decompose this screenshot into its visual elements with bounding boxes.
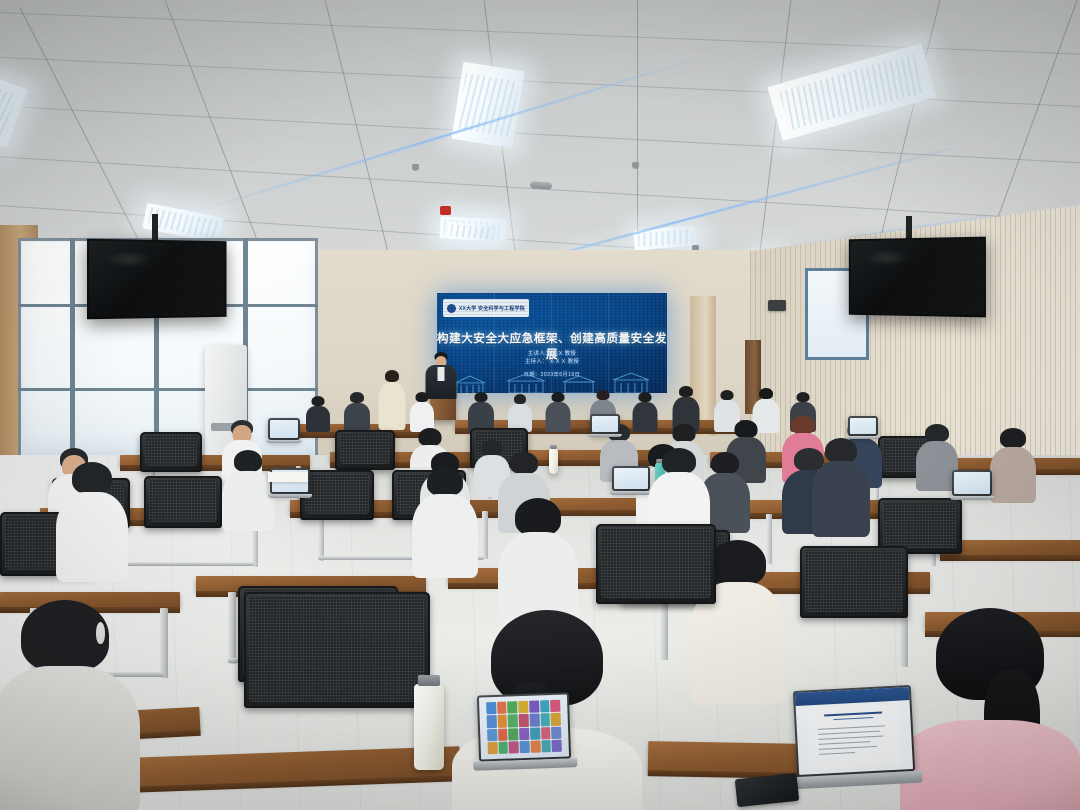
attendee [812, 438, 870, 534]
attendee-foreground [900, 608, 1080, 810]
attendee [56, 462, 128, 578]
ceiling-light [451, 62, 524, 149]
white-thermos-bottle[interactable] [414, 684, 444, 770]
attendee [412, 468, 478, 576]
attendee [410, 392, 434, 430]
laptop[interactable] [268, 418, 300, 440]
lecture-hall-photo: XX大学 安全科学与工程学院 构建大安全大应急框架、创建高质量安全发展 主讲人：… [0, 0, 1080, 810]
ceiling-light [767, 43, 936, 141]
attendee [306, 396, 330, 430]
chair[interactable] [335, 430, 395, 470]
notebook [268, 472, 308, 482]
attendee [468, 392, 494, 430]
attendee [498, 498, 578, 628]
ceiling-mounted-display-right [849, 237, 986, 318]
slide-skyline-graphic [437, 371, 667, 393]
desktop-icon-grid [486, 700, 562, 755]
attendee [222, 450, 274, 528]
chair[interactable] [596, 524, 716, 604]
slide-logo: XX大学 安全科学与工程学院 [443, 299, 529, 317]
laptop-showing-desktop-icons[interactable] [477, 692, 571, 761]
attendee [990, 428, 1036, 498]
smoke-detector-icon [530, 181, 552, 190]
slide-people: 主讲人： X X 教授 主持人： X X X 教授 [437, 350, 667, 366]
slide-speaker-line: 主讲人： X X 教授 [437, 350, 667, 358]
slide-logo-text: XX大学 安全科学与工程学院 [459, 305, 525, 312]
sprinkler-icon [412, 164, 419, 170]
attendee [545, 392, 570, 430]
attendee [378, 370, 406, 428]
chair[interactable] [140, 432, 202, 472]
ceiling-light [0, 38, 28, 148]
sprinkler-icon [632, 162, 639, 168]
laptop[interactable] [590, 414, 620, 434]
word-document-page [807, 702, 901, 769]
attendee [344, 392, 370, 430]
attendee-foreground [0, 600, 140, 810]
chair[interactable] [800, 546, 908, 618]
laptop[interactable] [848, 416, 878, 436]
chair[interactable] [144, 476, 222, 528]
laptop-showing-word-document[interactable] [793, 685, 915, 777]
fire-alarm-icon [440, 206, 451, 215]
attendee [508, 394, 532, 430]
wall-speaker-icon [768, 300, 786, 311]
bottle[interactable] [549, 448, 558, 474]
ceiling-mounted-display-left [87, 239, 227, 320]
slide-host-line: 主持人： X X X 教授 [437, 358, 667, 366]
university-emblem-icon [447, 304, 456, 313]
laptop[interactable] [612, 466, 650, 491]
presentation-screen: XX大学 安全科学与工程学院 构建大安全大应急框架、创建高质量安全发展 主讲人：… [437, 293, 667, 393]
chair[interactable] [244, 592, 430, 708]
laptop[interactable] [952, 470, 992, 496]
plush-keychain [96, 622, 105, 644]
